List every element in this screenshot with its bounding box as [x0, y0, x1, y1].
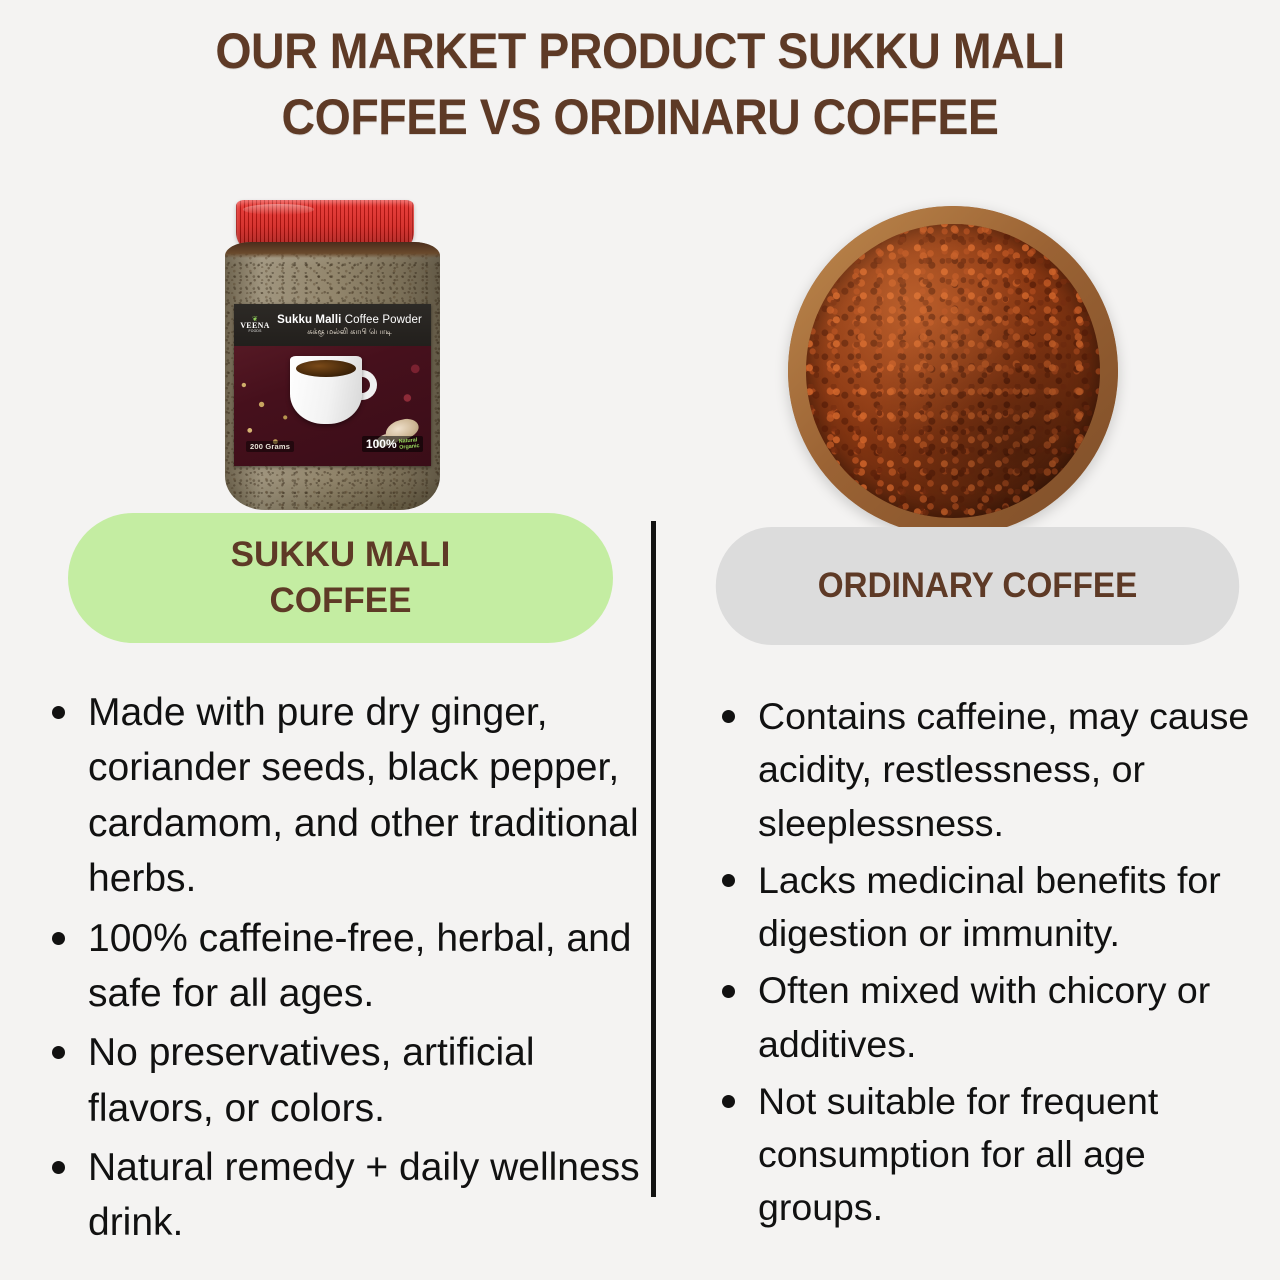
- left-column-bullet-list: Made with pure dry ginger, coriander see…: [30, 685, 648, 1255]
- jar-label-title-english: Sukku Malli Coffee Powder: [272, 314, 427, 326]
- ordinary-coffee-powder-bowl-image: [788, 206, 1118, 536]
- jar-label-title-light: Coffee Powder: [345, 314, 422, 326]
- list-item: Made with pure dry ginger, coriander see…: [30, 685, 648, 907]
- coffee-cup-photo: [290, 356, 376, 426]
- list-item: 100% caffeine-free, herbal, and safe for…: [30, 911, 648, 1022]
- page-title-line-2: COFFEE VS ORDINARU COFFEE: [45, 84, 1235, 150]
- page-title-line-1: OUR MARKET PRODUCT SUKKU MALI: [45, 18, 1235, 84]
- left-heading-line-1: SUKKU MALI: [231, 535, 451, 574]
- brand-logo: ❦ VEENA FOODS: [238, 308, 272, 342]
- list-item: Contains caffeine, may cause acidity, re…: [700, 690, 1266, 850]
- net-weight-text: 200 Grams: [246, 441, 294, 452]
- brand-tagline: FOODS: [248, 330, 261, 333]
- organic-badge-percent: 100%: [366, 438, 397, 450]
- list-item: No preservatives, artificial flavors, or…: [30, 1025, 648, 1136]
- right-column-heading-text: ORDINARY COFFEE: [818, 566, 1138, 606]
- column-divider: [651, 521, 656, 1197]
- jar-body: ❦ VEENA FOODS Sukku Malli Coffee Powder …: [225, 242, 440, 510]
- organic-badge-text: Natural Organic: [398, 437, 419, 451]
- right-column-heading-pill: ORDINARY COFFEE: [716, 527, 1239, 645]
- jar-lid: [236, 200, 414, 248]
- page-title: OUR MARKET PRODUCT SUKKU MALI COFFEE VS …: [45, 18, 1235, 150]
- cup-body: [290, 356, 362, 424]
- left-column-heading-pill: SUKKU MALI COFFEE: [68, 513, 613, 643]
- list-item: Not suitable for frequent consumption fo…: [700, 1075, 1266, 1235]
- list-item: Natural remedy + daily wellness drink.: [30, 1140, 648, 1251]
- jar-label-header: ❦ VEENA FOODS Sukku Malli Coffee Powder …: [234, 304, 431, 346]
- left-column-heading-text: SUKKU MALI COFFEE: [231, 532, 451, 624]
- left-heading-line-2: COFFEE: [270, 581, 412, 620]
- bowl-coffee-powder: [806, 224, 1100, 518]
- organic-badge: 100% Natural Organic: [362, 436, 423, 452]
- jar-label-title-bold: Sukku Malli: [277, 314, 341, 326]
- jar-label-title-tamil: சுக்கு மல்லி காபி பொடி: [272, 327, 427, 337]
- jar-label-titles: Sukku Malli Coffee Powder சுக்கு மல்லி க…: [272, 314, 431, 337]
- list-item: Often mixed with chicory or additives.: [700, 964, 1266, 1071]
- sukku-mali-coffee-jar-image: ❦ VEENA FOODS Sukku Malli Coffee Powder …: [225, 198, 440, 510]
- jar-label: ❦ VEENA FOODS Sukku Malli Coffee Powder …: [234, 304, 431, 466]
- list-item: Lacks medicinal benefits for digestion o…: [700, 854, 1266, 961]
- organic-badge-line-2: Organic: [399, 443, 420, 451]
- jar-label-footer: 200 Grams 100% Natural Organic: [234, 436, 431, 460]
- right-column-bullet-list: Contains caffeine, may cause acidity, re…: [700, 690, 1266, 1239]
- cup-liquid: [296, 360, 356, 377]
